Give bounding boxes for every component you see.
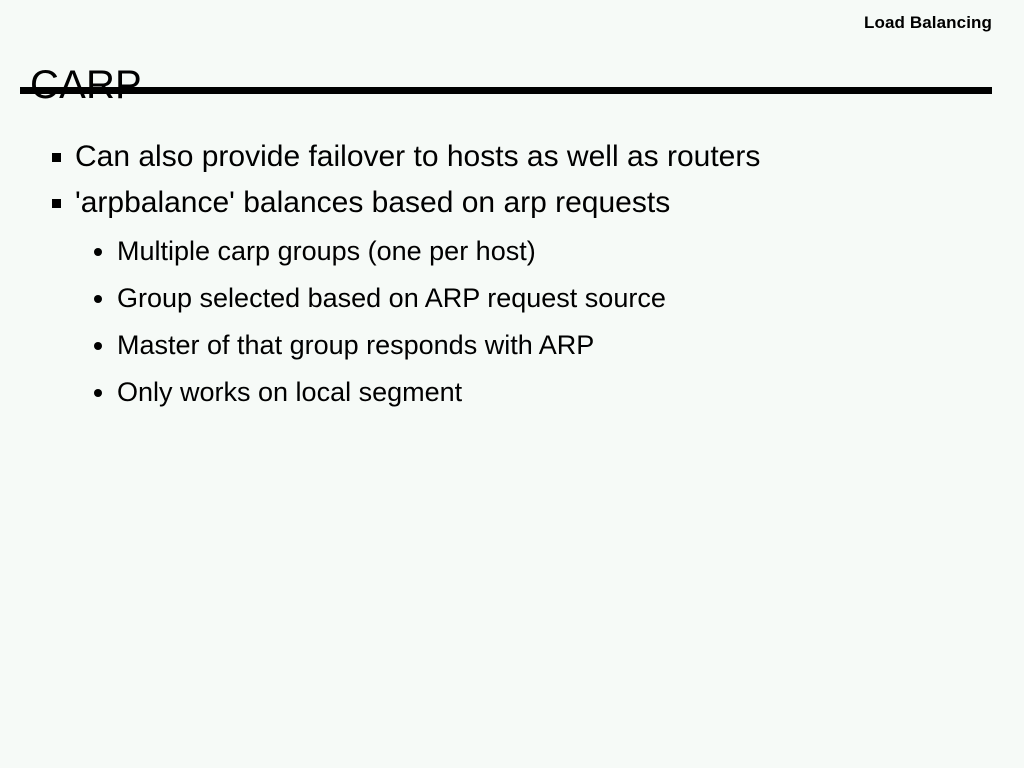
list-item-label: Multiple carp groups (one per host) bbox=[117, 228, 536, 275]
round-bullet-icon bbox=[94, 248, 102, 256]
list-item: Only works on local segment bbox=[0, 369, 1024, 416]
list-item: 'arpbalance' balances based on arp reque… bbox=[0, 180, 1024, 226]
slide: Load Balancing CARP Can also provide fai… bbox=[0, 0, 1024, 768]
bullet-sublist-container: Multiple carp groups (one per host) Grou… bbox=[0, 228, 1024, 416]
list-item-label: Group selected based on ARP request sour… bbox=[117, 275, 666, 322]
list-item: Multiple carp groups (one per host) bbox=[0, 228, 1024, 275]
list-item: Group selected based on ARP request sour… bbox=[0, 275, 1024, 322]
square-bullet-icon bbox=[52, 153, 61, 162]
list-item-label: 'arpbalance' balances based on arp reque… bbox=[75, 180, 670, 226]
list-item-label: Only works on local segment bbox=[117, 369, 462, 416]
round-bullet-icon bbox=[94, 389, 102, 397]
list-item-label: Can also provide failover to hosts as we… bbox=[75, 134, 760, 180]
list-item: Master of that group responds with ARP bbox=[0, 322, 1024, 369]
list-item: Can also provide failover to hosts as we… bbox=[0, 134, 1024, 180]
round-bullet-icon bbox=[94, 295, 102, 303]
title-divider bbox=[20, 87, 992, 94]
running-title: Load Balancing bbox=[864, 14, 992, 31]
square-bullet-icon bbox=[52, 199, 61, 208]
list-item-label: Master of that group responds with ARP bbox=[117, 322, 594, 369]
page-title: CARP bbox=[30, 65, 142, 105]
slide-body: Can also provide failover to hosts as we… bbox=[0, 134, 1024, 416]
bullet-list-level2: Multiple carp groups (one per host) Grou… bbox=[0, 228, 1024, 416]
round-bullet-icon bbox=[94, 342, 102, 350]
bullet-list-level1: Can also provide failover to hosts as we… bbox=[0, 134, 1024, 416]
